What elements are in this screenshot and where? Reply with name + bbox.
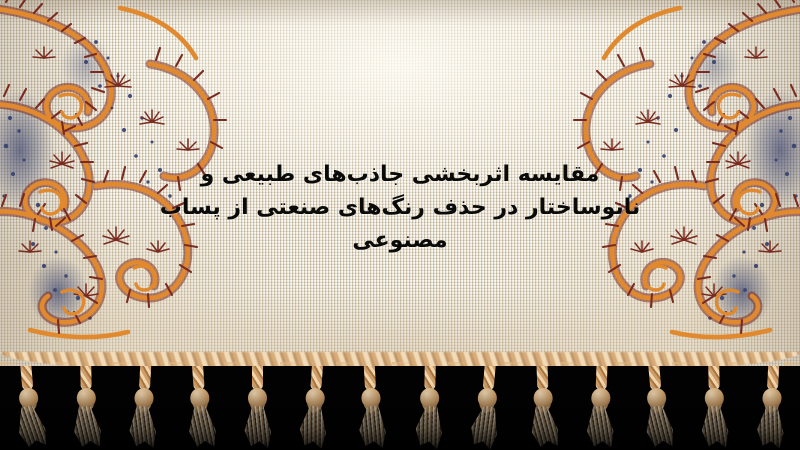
tassel-knot: [646, 387, 667, 409]
tassel-cord: [364, 366, 377, 390]
tassel-knot: [477, 387, 498, 409]
tassel-cord: [648, 366, 662, 391]
title-line-2: نانوساختار در حذف رنگ‌های صنعتی از پساب: [150, 191, 650, 224]
tassel-cord: [596, 366, 608, 390]
tassel-fringe: [0, 366, 800, 450]
tassel-cord: [80, 366, 92, 390]
tassel: [459, 366, 512, 450]
tassel: [631, 366, 684, 450]
tassel-threads: [69, 404, 104, 449]
slide-title: مقایسه اثربخشی جاذب‌های طبیعی و نانوساخت…: [150, 158, 650, 257]
tassel: [62, 366, 109, 450]
tassel: [518, 366, 567, 450]
tassel: [346, 366, 396, 450]
tassel: [691, 366, 738, 450]
tassel-knot: [248, 388, 267, 408]
tassel: [576, 366, 625, 450]
tassel-threads: [641, 404, 677, 450]
tassel-threads: [184, 405, 218, 450]
tassel-cord: [19, 366, 33, 391]
tassel: [405, 366, 452, 450]
tassel-cord: [311, 366, 324, 390]
tassel-threads: [357, 406, 388, 449]
tassel-cord: [139, 366, 152, 390]
tassel-cord: [192, 366, 205, 390]
tassel-knot: [134, 388, 154, 409]
tassel-knot: [76, 388, 95, 408]
tassel: [746, 366, 796, 450]
tassel-threads: [11, 403, 50, 450]
title-line-1: مقایسه اثربخشی جاذب‌های طبیعی و: [150, 158, 650, 191]
tassel-knot: [361, 388, 381, 409]
tassel-threads: [583, 405, 615, 449]
tassel: [2, 366, 55, 450]
tassel-threads: [242, 406, 272, 448]
tassel: [288, 366, 340, 450]
tassel-knot: [18, 387, 39, 409]
tassel-cord: [536, 366, 548, 390]
title-slide: مقایسه اثربخشی جاذب‌های طبیعی و نانوساخت…: [0, 0, 800, 450]
tassel-knot: [533, 388, 553, 409]
tassel-knot: [420, 388, 439, 408]
tassel-threads: [525, 404, 561, 450]
title-line-3: مصنوعی: [150, 224, 650, 257]
tassel-cord: [252, 366, 263, 390]
tassel-cord: [767, 366, 780, 390]
tassel-cord: [424, 366, 436, 390]
tassel-threads: [126, 406, 157, 449]
tassel-threads: [699, 405, 730, 448]
tassel-threads: [296, 405, 330, 450]
tassel-knot: [190, 387, 210, 408]
tassel-cord: [482, 366, 496, 391]
tassel-cord: [708, 366, 720, 390]
tassel-knot: [591, 388, 611, 409]
tassel: [118, 366, 168, 450]
tassel-knot: [305, 387, 325, 408]
tassel-threads: [411, 404, 446, 449]
tassel-knot: [705, 388, 724, 408]
tassel-threads: [754, 405, 787, 449]
tassel-threads: [465, 403, 504, 450]
tassel: [234, 366, 280, 450]
tassel: [174, 366, 226, 450]
tassel-knot: [762, 388, 782, 409]
